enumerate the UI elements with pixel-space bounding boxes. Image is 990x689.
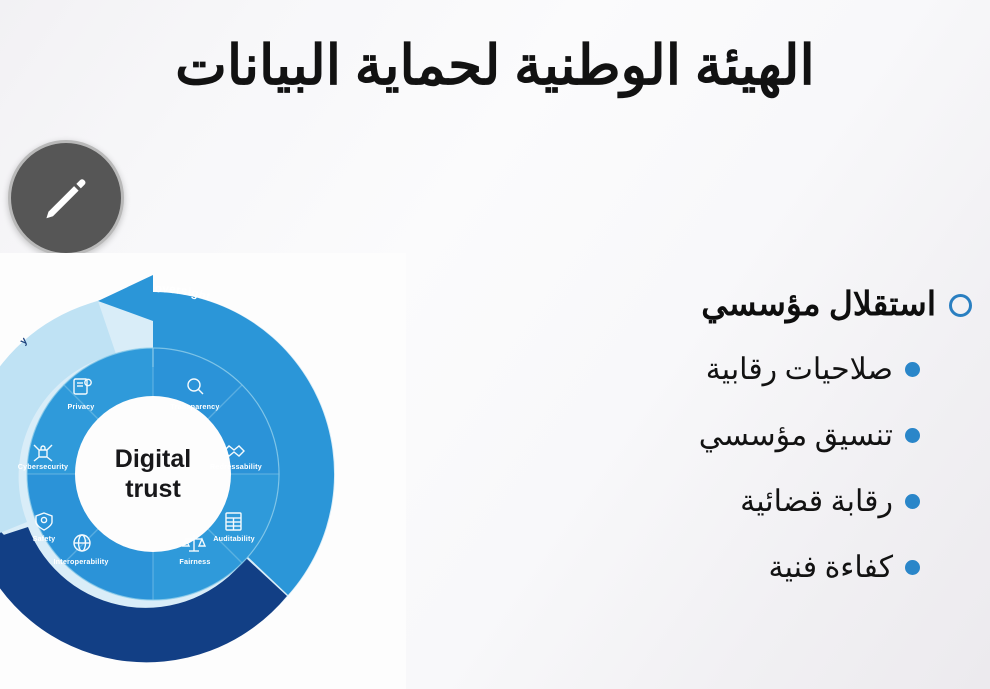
list-item: صلاحيات رقابية [552,344,972,396]
list-item: كفاءة فنية [552,542,972,594]
dot-bullet-icon [905,494,920,509]
dot-bullet-icon [905,428,920,443]
dot-bullet-icon [905,560,920,575]
list-item-label: تنسيق مؤسسي [699,418,893,454]
digital-trust-diagram: Digital trust [0,253,406,689]
segment-label-privacy: Privacy [68,402,95,411]
list-item: تنسيق مؤسسي [552,410,972,462]
bullet-list: صلاحيات رقابية تنسيق مؤسسي رقابة قضائية … [552,344,972,594]
wheel-graphic: Digital trust [0,269,358,679]
segment-label-transparency: Transparency [170,402,219,411]
segment-label-fairness: Fairness [179,557,210,566]
segment-label-safety: Safety [33,534,56,543]
segment-label-auditability: Auditability [213,534,255,543]
section-heading: استقلال مؤسسي [552,286,972,326]
arc-label-reliability: Reliability [0,269,30,347]
segment-label-interoperability: Interoperability [53,557,108,566]
wheel-hub [75,396,231,552]
hub-label-line1: Digital [115,445,191,473]
segment-label-cybersecurity: Cybersecurity [18,462,69,471]
pencil-icon [39,171,93,225]
content-column: استقلال مؤسسي صلاحيات رقابية تنسيق مؤسسي… [552,286,972,608]
list-item: رقابة قضائية [552,476,972,528]
list-item-label: صلاحيات رقابية [706,352,893,388]
page-title: الهيئة الوطنية لحماية البيانات [0,34,990,99]
hub-label-line2: trust [125,475,181,503]
dot-bullet-icon [905,362,920,377]
segment-label-redressability: Redressability [210,462,262,471]
list-item-label: كفاءة فنية [769,550,893,586]
section-heading-label: استقلال مؤسسي [701,286,936,326]
ring-bullet-icon [949,294,972,317]
list-item-label: رقابة قضائية [740,484,893,520]
edit-button[interactable] [8,140,124,256]
